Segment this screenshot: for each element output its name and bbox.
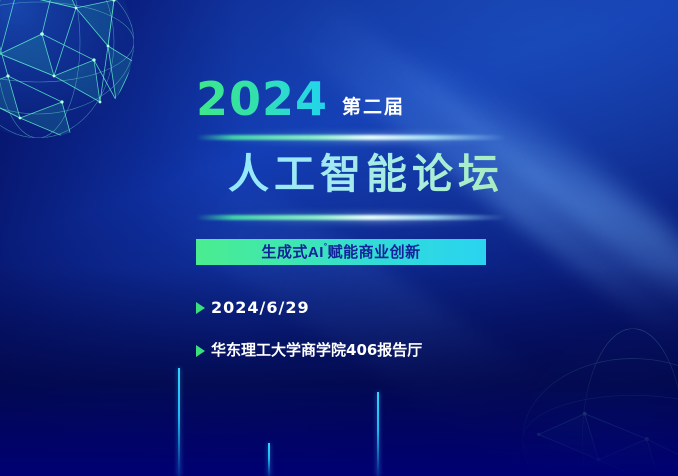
divider-line-top xyxy=(196,135,506,140)
event-date-label: 2024/6/29 xyxy=(211,300,310,316)
event-date-row: 2024/6/29 xyxy=(196,300,596,316)
light-bar xyxy=(178,368,180,476)
poster-canvas: 2024 第二届 人工智能论坛 生成式AI°赋能商业创新 2024/6/29 华… xyxy=(0,0,678,476)
year-label: 2024 xyxy=(196,76,328,122)
wireframe-globe-icon xyxy=(0,0,138,142)
superscript-mark: ° xyxy=(324,242,328,251)
divider-line-bottom xyxy=(196,215,506,220)
triangle-bullet-icon xyxy=(196,302,205,314)
edition-label: 第二届 xyxy=(342,92,405,119)
year-row: 2024 第二届 xyxy=(196,76,596,128)
event-venue-row: 华东理工大学商学院406报告厅 xyxy=(196,343,596,358)
subtitle-rest-text: 赋能商业创新 xyxy=(328,244,421,261)
subtitle-label: 生成式AI°赋能商业创新 xyxy=(261,245,420,260)
light-bar xyxy=(377,392,379,476)
page-title: 人工智能论坛 xyxy=(196,140,596,208)
subtitle-banner: 生成式AI°赋能商业创新 xyxy=(196,239,486,265)
triangle-bullet-icon xyxy=(196,345,205,357)
light-bar xyxy=(268,443,270,476)
subtitle-main-text: 生成式AI xyxy=(261,244,324,261)
event-venue-label: 华东理工大学商学院406报告厅 xyxy=(211,343,422,358)
poster-content: 2024 第二届 人工智能论坛 生成式AI°赋能商业创新 2024/6/29 华… xyxy=(196,76,596,358)
